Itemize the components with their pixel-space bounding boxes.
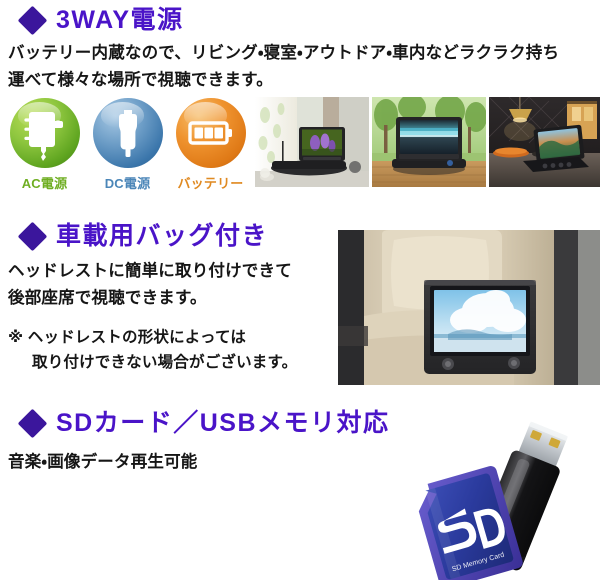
feature-heading-sd-usb: SDカード／USBメモリ対応 — [22, 411, 390, 436]
product-feature-page: 3WAY電源 バッテリー内蔵なので、リビング・寝室・アウトドア・車内などラクラク… — [0, 0, 600, 580]
diamond-bullet-icon — [18, 409, 48, 439]
note-line-1: ヘッドレストの形状によっては — [28, 329, 246, 346]
feature-body-car-bag: ヘッドレストに簡単に取り付けできて 後部座席で視聴できます。 — [8, 258, 338, 311]
power-source-dc: DC電源 — [89, 98, 166, 192]
feature-title: 3WAY電源 — [56, 8, 184, 33]
photo-headrest-mount — [338, 230, 600, 385]
car-dc-adapter-icon — [93, 98, 163, 168]
feature-body-three-way-power: バッテリー内蔵なので、リビング・寝室・アウトドア・車内などラクラク持ち 運べて様… — [8, 40, 600, 93]
photo-bedroom — [489, 97, 600, 187]
feature-title: SDカード／USBメモリ対応 — [56, 411, 390, 436]
photo-outdoor — [372, 97, 486, 187]
feature-body-sd-usb: 音楽・画像データ再生可能 — [8, 449, 338, 476]
diamond-bullet-icon — [18, 222, 48, 252]
photo-living-room — [255, 97, 369, 187]
power-source-label-ac: AC電源 — [6, 173, 83, 192]
power-source-label-dc: DC電源 — [89, 173, 166, 192]
feature-title: 車載用バッグ付き — [56, 224, 268, 249]
ac-adapter-icon — [10, 98, 80, 168]
media-art-sd-card-and-usb-drive: SD Memory Card — [404, 418, 600, 580]
feature-note-car-bag: ※ ヘッドレストの形状によっては 取り付けできない場合がございます。 — [8, 325, 348, 375]
battery-icon — [176, 98, 246, 168]
power-source-ac: AC電源 — [6, 98, 83, 192]
power-source-icon-group: AC電源 DC電源 — [6, 98, 249, 192]
feature-heading-car-bag: 車載用バッグ付き — [22, 224, 268, 249]
note-marker: ※ — [8, 329, 23, 346]
feature-heading-three-way-power: 3WAY電源 — [22, 8, 184, 33]
power-source-battery: バッテリー — [172, 98, 249, 192]
note-line-2: 取り付けできない場合がございます。 — [8, 350, 348, 375]
diamond-bullet-icon — [18, 6, 48, 36]
power-source-label-battery: バッテリー — [172, 173, 249, 192]
